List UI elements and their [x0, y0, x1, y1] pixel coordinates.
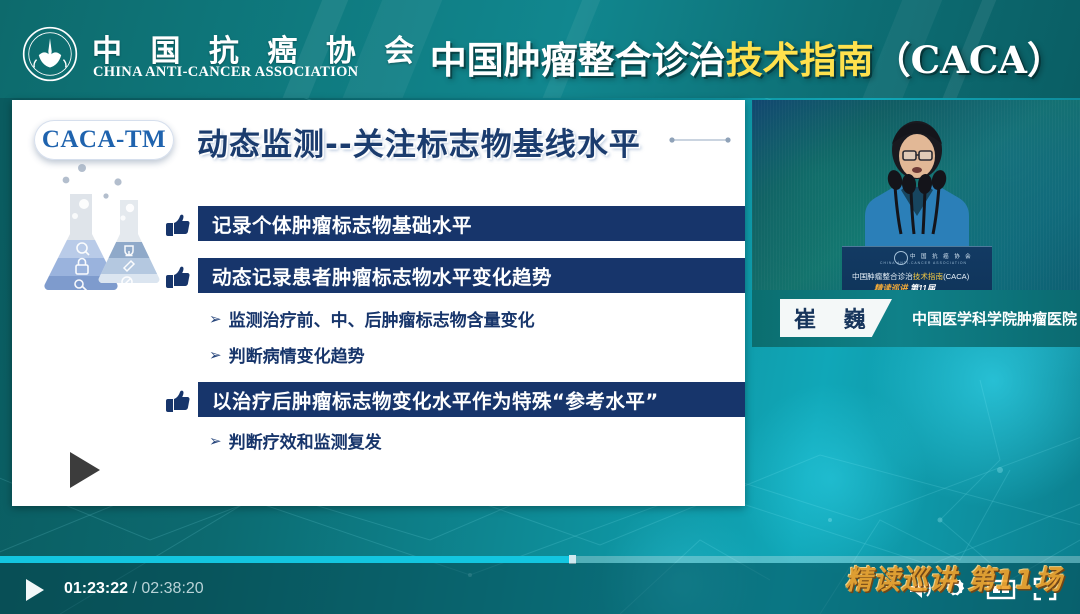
podium-org-cn: 中 国 抗 癌 协 会: [910, 252, 973, 260]
arrow-bullet-icon: ➢: [209, 346, 222, 364]
play-button[interactable]: [26, 579, 44, 601]
watermark-text: 精读巡讲 第11场: [845, 558, 1063, 597]
current-time: 01:23:22: [64, 580, 128, 597]
association-name-en: CHINA ANTI-CANCER ASSOCIATION: [93, 64, 358, 81]
title-decoration-line: [667, 136, 733, 144]
slide-title: 动态监测--关注标志物基线水平: [197, 119, 641, 164]
slide-play-triangle-icon[interactable]: [70, 452, 100, 488]
sub-bullet-text: 判断病情变化趋势: [229, 342, 365, 367]
speaker-affiliation: 中国医学科学院肿瘤医院: [912, 308, 1077, 329]
sub-bullet-text: 判断疗效和监测复发: [229, 428, 382, 453]
speaker-name: 崔 巍: [794, 302, 876, 334]
speaker-name-bar: 崔 巍 中国医学科学院肿瘤医院: [752, 290, 1080, 347]
caca-tm-badge: CACA-TM: [34, 120, 174, 160]
list-item: 以治疗后肿瘤标志物变化水平作为特殊“参考水平”: [162, 382, 745, 417]
arrow-bullet-icon: ➢: [209, 432, 222, 450]
banner-row: 记录个体肿瘤标志物基础水平: [198, 206, 745, 241]
arrow-bullet-icon: ➢: [209, 310, 222, 328]
podium-line-1a: 中国肿瘤整合诊治: [852, 272, 913, 281]
sub-bullet: ➢ 判断疗效和监测复发: [209, 428, 382, 453]
thumbs-up-icon: [162, 209, 192, 239]
banner-text: 动态记录患者肿瘤标志物水平变化趋势: [212, 261, 552, 290]
banner-row: 以治疗后肿瘤标志物变化水平作为特殊“参考水平”: [198, 382, 745, 417]
title-part-2: （CACA）: [874, 38, 1064, 82]
podium-line-1: 中国肿瘤整合诊治技术指南(CACA): [852, 271, 969, 282]
caca-tm-badge-label: CACA-TM: [42, 126, 166, 154]
presentation-slide[interactable]: CACA-TM 动态监测--关注标志物基线水平: [12, 100, 745, 506]
laboratory-flasks-illustration: [40, 160, 172, 310]
title-part-1: 中国肿瘤整合诊治: [430, 38, 726, 82]
list-item: 记录个体肿瘤标志物基础水平: [162, 206, 745, 241]
guideline-title: 中国肿瘤整合诊治技术指南（CACA）: [430, 30, 1064, 84]
podium-org-en: CHINA ANTI-CANCER ASSOCIATION: [880, 261, 967, 265]
caca-logo-icon: [22, 26, 78, 82]
banner-row: 动态记录患者肿瘤标志物水平变化趋势: [198, 258, 745, 293]
progress-bar-fill: [0, 556, 572, 563]
sub-bullet-text: 监测治疗前、中、后肿瘤标志物含量变化: [229, 306, 535, 331]
banner-text: 记录个体肿瘤标志物基础水平: [212, 209, 472, 238]
sub-bullet: ➢ 判断病情变化趋势: [209, 342, 365, 367]
speaker-name-plate: 崔 巍: [780, 299, 892, 337]
video-player-page: 中 国 抗 癌 协 会 CHINA ANTI-CANCER ASSOCIATIO…: [0, 0, 1080, 614]
title-highlight: 技术指南: [726, 38, 874, 82]
thumbs-up-icon: [162, 261, 192, 291]
time-display: 01:23:22 / 02:38:20: [64, 580, 204, 598]
thumbs-up-icon: [162, 385, 192, 415]
time-separator: /: [133, 580, 137, 597]
podium-line-1b: 技术指南: [913, 272, 943, 281]
banner-text: 以治疗后肿瘤标志物变化水平作为特殊“参考水平”: [212, 385, 659, 414]
page-header: 中 国 抗 癌 协 会 CHINA ANTI-CANCER ASSOCIATIO…: [0, 0, 1080, 98]
list-item: 动态记录患者肿瘤标志物水平变化趋势: [162, 258, 745, 293]
podium-line-1c: (CACA): [943, 272, 969, 281]
total-time: 02:38:20: [141, 580, 203, 597]
sub-bullet: ➢ 监测治疗前、中、后肿瘤标志物含量变化: [209, 306, 535, 331]
